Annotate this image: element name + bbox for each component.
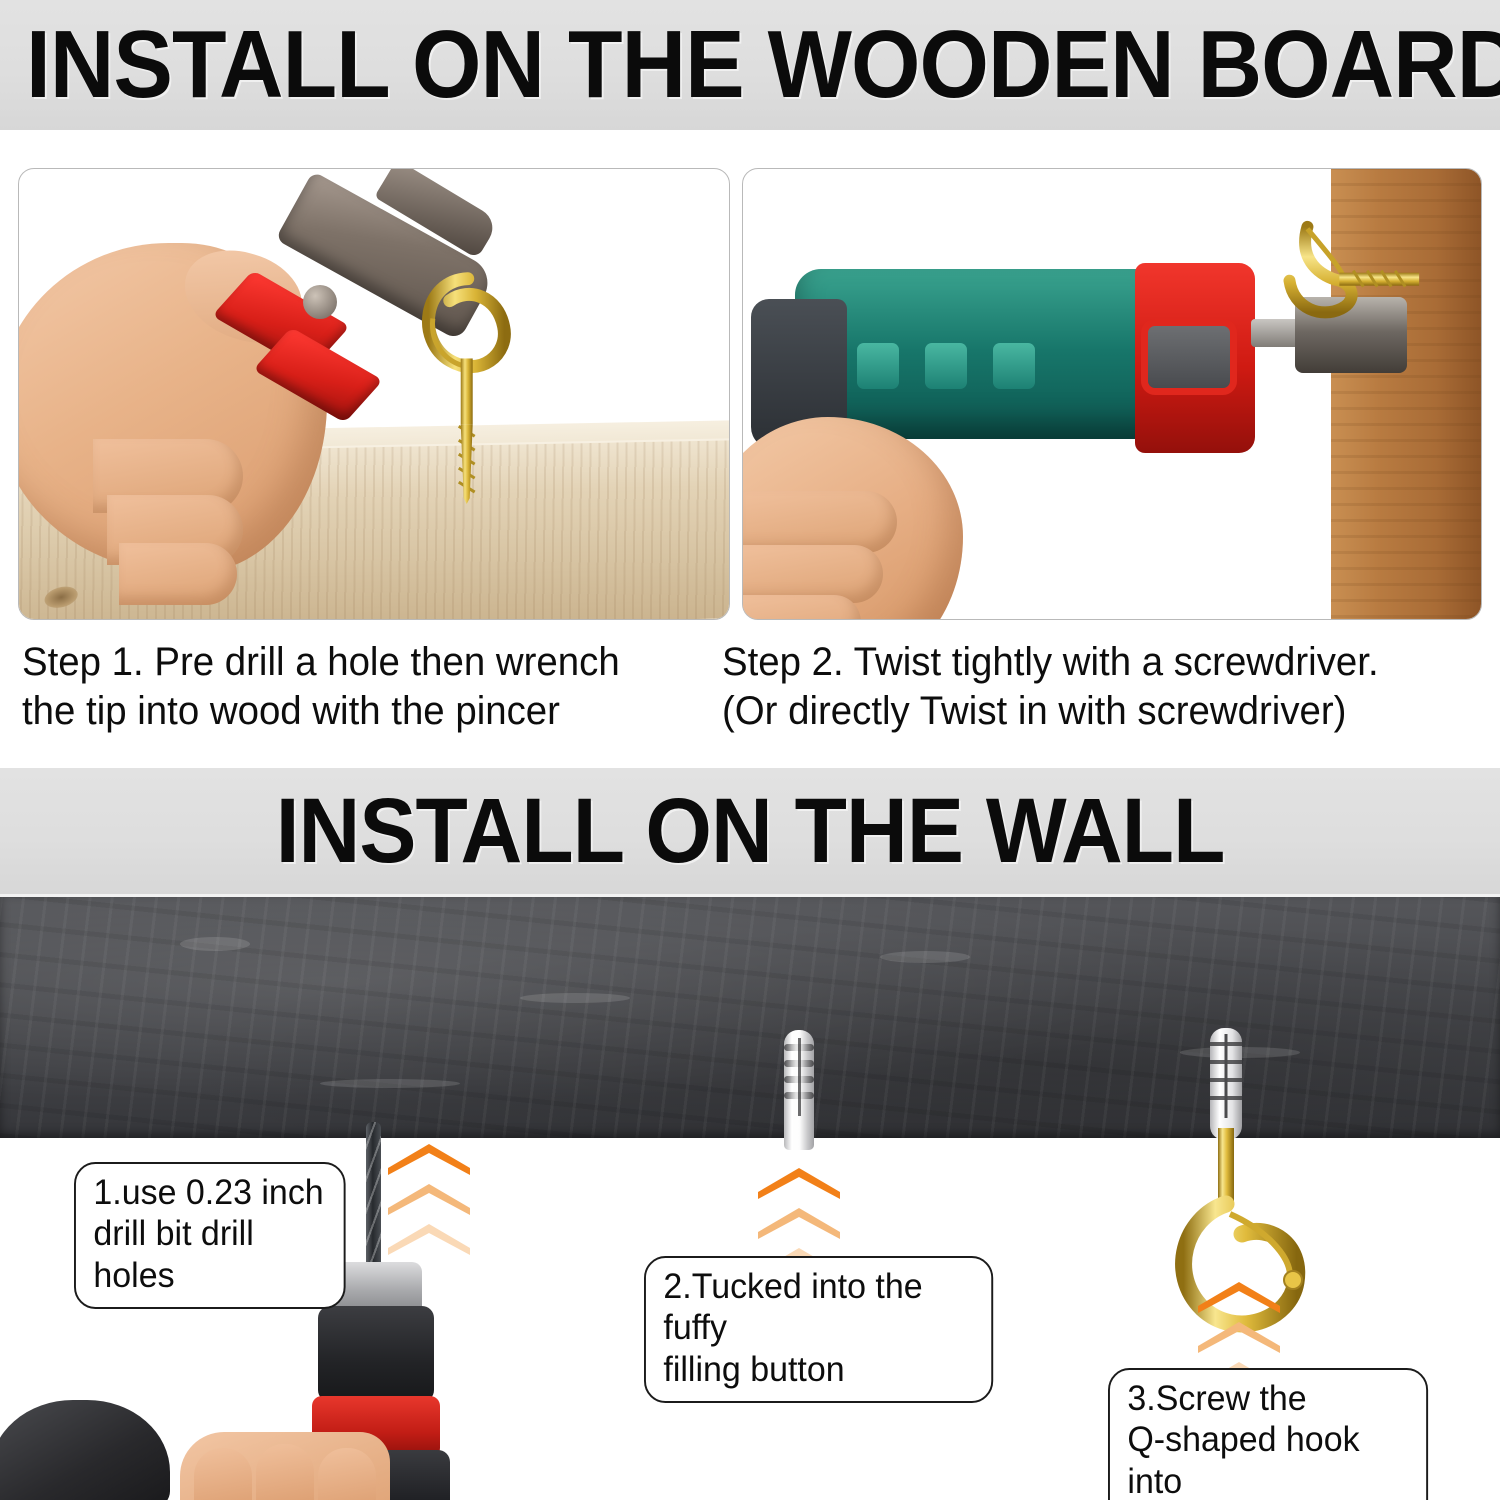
wall-texture-speck [180,937,250,951]
section-header-wooden-board: INSTALL ON THE WOODEN BOARD [0,0,1500,130]
drill-battery [0,1400,170,1500]
section-header-wall: INSTALL ON THE WALL [0,768,1500,894]
drill-bit [366,1122,381,1270]
wooden-board-photo-row [0,168,1500,620]
chevron-up-icon [756,1206,842,1240]
finger [194,1448,252,1500]
infographic-page: INSTALL ON THE WOODEN BOARD [0,0,1500,1500]
chevron-up-icon [1196,1280,1282,1314]
hand-holding-drill [180,1432,390,1500]
anchor-barb [784,1060,814,1067]
wall-header-text: INSTALL ON THE WALL [276,779,1225,884]
step-2-photo [742,168,1482,620]
chevron-up-icon [386,1222,472,1256]
drill-collar [318,1306,434,1402]
chevron-up-icon [756,1166,842,1200]
chevron-group-1 [386,1142,472,1262]
chevron-up-icon [1196,1320,1282,1354]
gold-q-hook-screw-horizontal [743,169,1481,620]
step-2-caption: Step 2. Twist tightly with a screwdriver… [722,638,1461,736]
chevron-up-icon [386,1182,472,1216]
callout-step-1: 1.use 0.23 inch drill bit drill holes [74,1162,346,1309]
step-1-photo [18,168,730,620]
gold-q-hook-screw-vertical [19,169,729,620]
wall-texture-speck [880,951,970,963]
callout-step-2: 2.Tucked into the fuffy filling button [644,1256,993,1403]
wall-texture-speck [520,993,630,1003]
finger [256,1444,314,1500]
callout-step-3: 3.Screw the Q-shaped hook into the fuffy… [1108,1368,1428,1500]
anchor-barb [784,1092,814,1099]
anchor-barb [784,1076,814,1083]
chevron-up-icon [386,1142,472,1176]
step-1-caption: Step 1. Pre drill a hole then wrench the… [22,638,694,736]
wall-texture-speck [320,1079,460,1088]
anchor-barb [784,1044,814,1051]
wooden-board-header-text: INSTALL ON THE WOODEN BOARD [26,10,1500,120]
white-wall-anchor [784,1030,814,1150]
finger [318,1448,376,1500]
